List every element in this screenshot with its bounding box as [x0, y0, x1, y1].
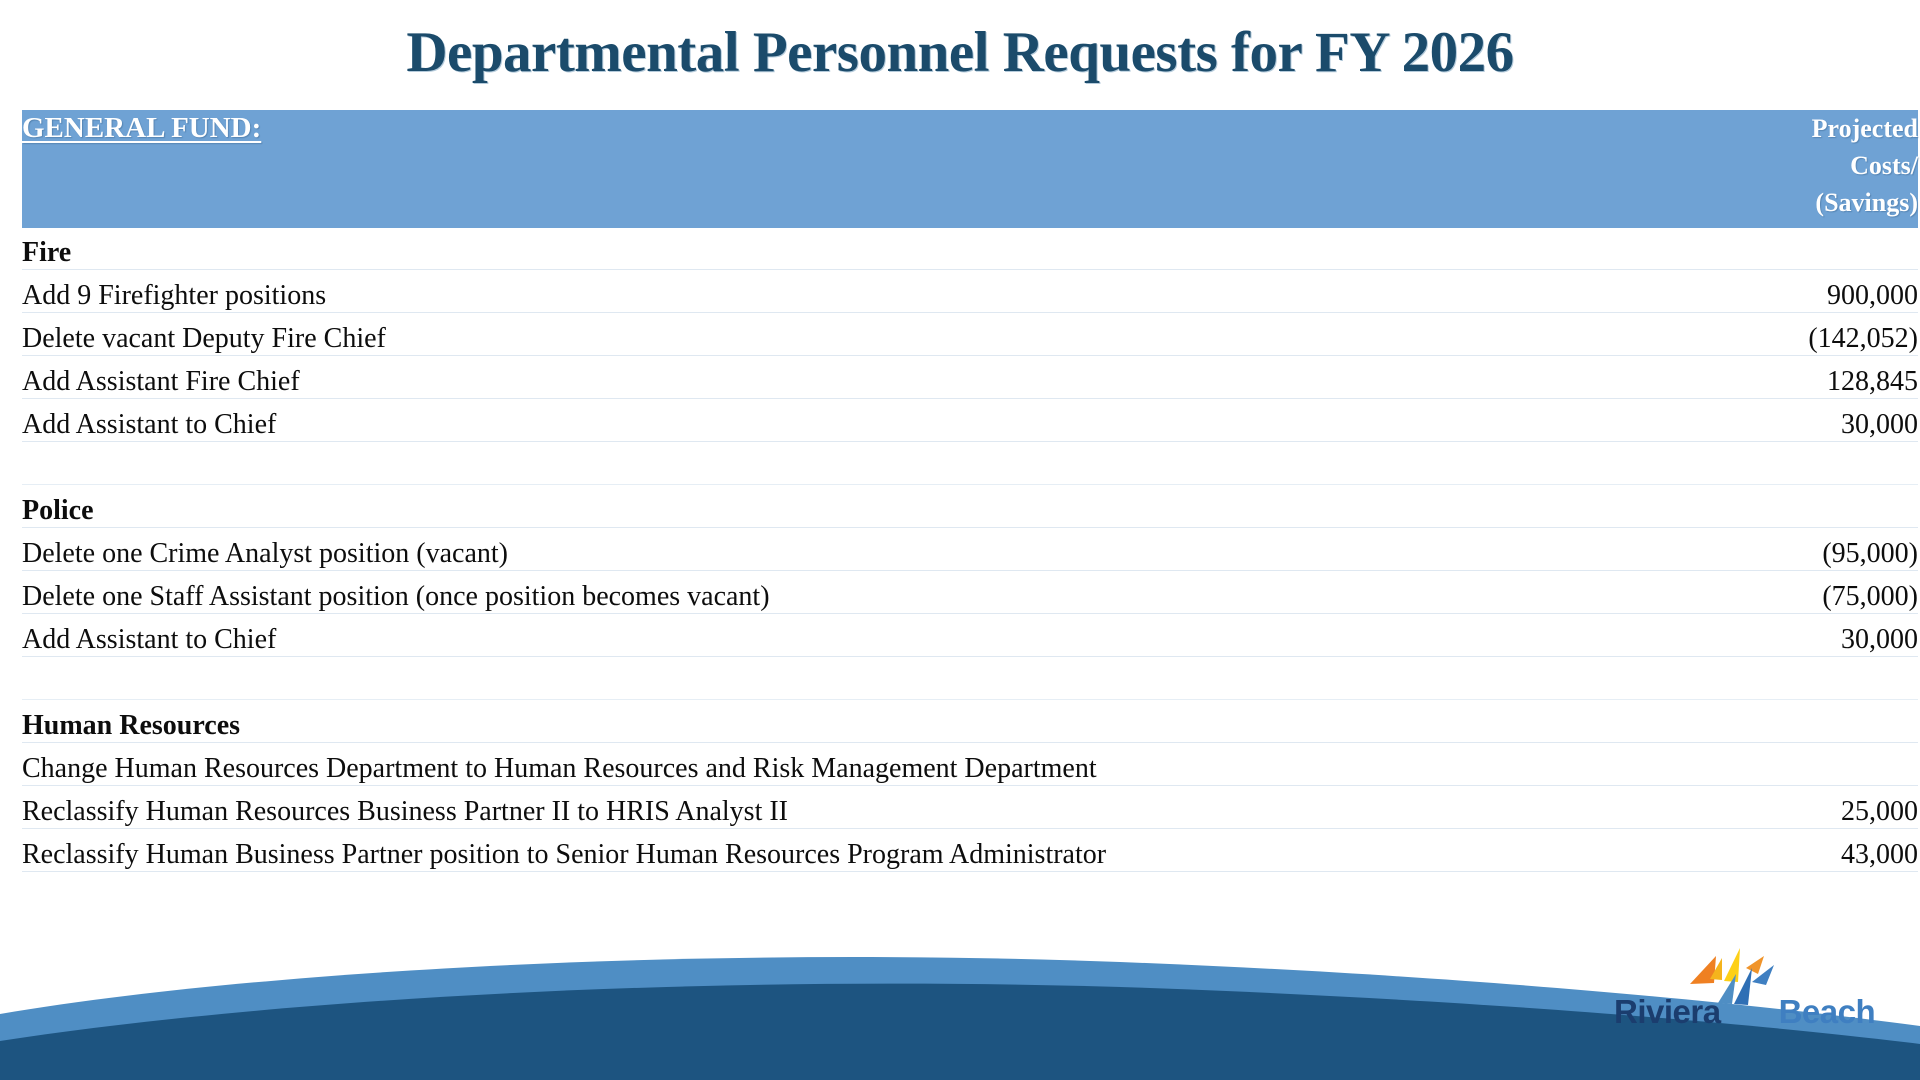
general-fund-header-cell: GENERAL FUND: [22, 110, 1712, 228]
sail-yellow-large [1724, 948, 1740, 982]
request-description: Delete vacant Deputy Fire Chief [22, 312, 1712, 355]
table-header-row: GENERAL FUND: Projected Costs/ (Savings) [22, 110, 1918, 228]
projected-cost-value: 900,000 [1712, 269, 1918, 312]
page-title: Departmental Personnel Requests for FY 2… [0, 18, 1920, 88]
projected-cost-value: 30,000 [1712, 613, 1918, 656]
projected-cost-value [1712, 441, 1918, 484]
projected-cost-value: 43,000 [1712, 828, 1918, 871]
table-header: GENERAL FUND: Projected Costs/ (Savings) [22, 110, 1918, 228]
table-spacer-row [22, 656, 1918, 699]
request-description: Add Assistant to Chief [22, 613, 1712, 656]
projected-cost-value [1712, 656, 1918, 699]
table-body: FireAdd 9 Firefighter positions900,000De… [22, 228, 1918, 871]
projected-costs-line-2: Costs/ [1712, 147, 1918, 184]
table-section-row: Fire [22, 228, 1918, 269]
sail-orange [1690, 956, 1716, 984]
projected-cost-value [1712, 742, 1918, 785]
projected-cost-value: (75,000) [1712, 570, 1918, 613]
projected-cost-value: 25,000 [1712, 785, 1918, 828]
logo-word-beach: Beach [1779, 993, 1876, 1030]
projected-costs-line-3: (Savings) [1712, 184, 1918, 221]
slide-canvas: Departmental Personnel Requests for FY 2… [0, 0, 1920, 1080]
request-description: Reclassify Human Business Partner positi… [22, 828, 1712, 871]
personnel-requests-table-wrapper: GENERAL FUND: Projected Costs/ (Savings)… [22, 110, 1918, 872]
request-description: Delete one Crime Analyst position (vacan… [22, 527, 1712, 570]
table-row: Delete vacant Deputy Fire Chief(142,052) [22, 312, 1918, 355]
sail-orange-right [1746, 956, 1764, 974]
projected-costs-line-1: Projected [1712, 110, 1918, 147]
request-description: Change Human Resources Department to Hum… [22, 742, 1712, 785]
table-row: Add Assistant to Chief30,000 [22, 398, 1918, 441]
request-description: Add 9 Firefighter positions [22, 269, 1712, 312]
table-section-row: Police [22, 484, 1918, 527]
projected-cost-value [1712, 699, 1918, 742]
projected-cost-value [1712, 228, 1918, 269]
table-row: Delete one Staff Assistant position (onc… [22, 570, 1918, 613]
request-description [22, 656, 1712, 699]
table-row: Delete one Crime Analyst position (vacan… [22, 527, 1918, 570]
table-row: Add Assistant Fire Chief128,845 [22, 355, 1918, 398]
projected-cost-value: (142,052) [1712, 312, 1918, 355]
riviera-beach-logo: RivieraBeach [1614, 948, 1864, 1038]
request-description: Reclassify Human Resources Business Part… [22, 785, 1712, 828]
table-row: Add 9 Firefighter positions900,000 [22, 269, 1918, 312]
request-description: Add Assistant to Chief [22, 398, 1712, 441]
projected-cost-value: 128,845 [1712, 355, 1918, 398]
general-fund-label: GENERAL FUND: [22, 110, 261, 146]
table-row: Add Assistant to Chief30,000 [22, 613, 1918, 656]
table-row: Change Human Resources Department to Hum… [22, 742, 1918, 785]
projected-cost-value: (95,000) [1712, 527, 1918, 570]
personnel-requests-table: GENERAL FUND: Projected Costs/ (Savings)… [22, 110, 1918, 872]
section-heading: Human Resources [22, 699, 1712, 742]
table-row: Reclassify Human Business Partner positi… [22, 828, 1918, 871]
table-row: Reclassify Human Resources Business Part… [22, 785, 1918, 828]
projected-cost-value [1712, 484, 1918, 527]
table-spacer-row [22, 441, 1918, 484]
section-heading: Police [22, 484, 1712, 527]
projected-costs-header-cell: Projected Costs/ (Savings) [1712, 110, 1918, 228]
projected-cost-value: 30,000 [1712, 398, 1918, 441]
logo-wordmark: RivieraBeach [1614, 992, 1864, 1032]
request-description [22, 441, 1712, 484]
logo-word-riviera: Riviera [1614, 993, 1721, 1030]
section-heading: Fire [22, 228, 1712, 269]
request-description: Add Assistant Fire Chief [22, 355, 1712, 398]
request-description: Delete one Staff Assistant position (onc… [22, 570, 1712, 613]
table-section-row: Human Resources [22, 699, 1918, 742]
